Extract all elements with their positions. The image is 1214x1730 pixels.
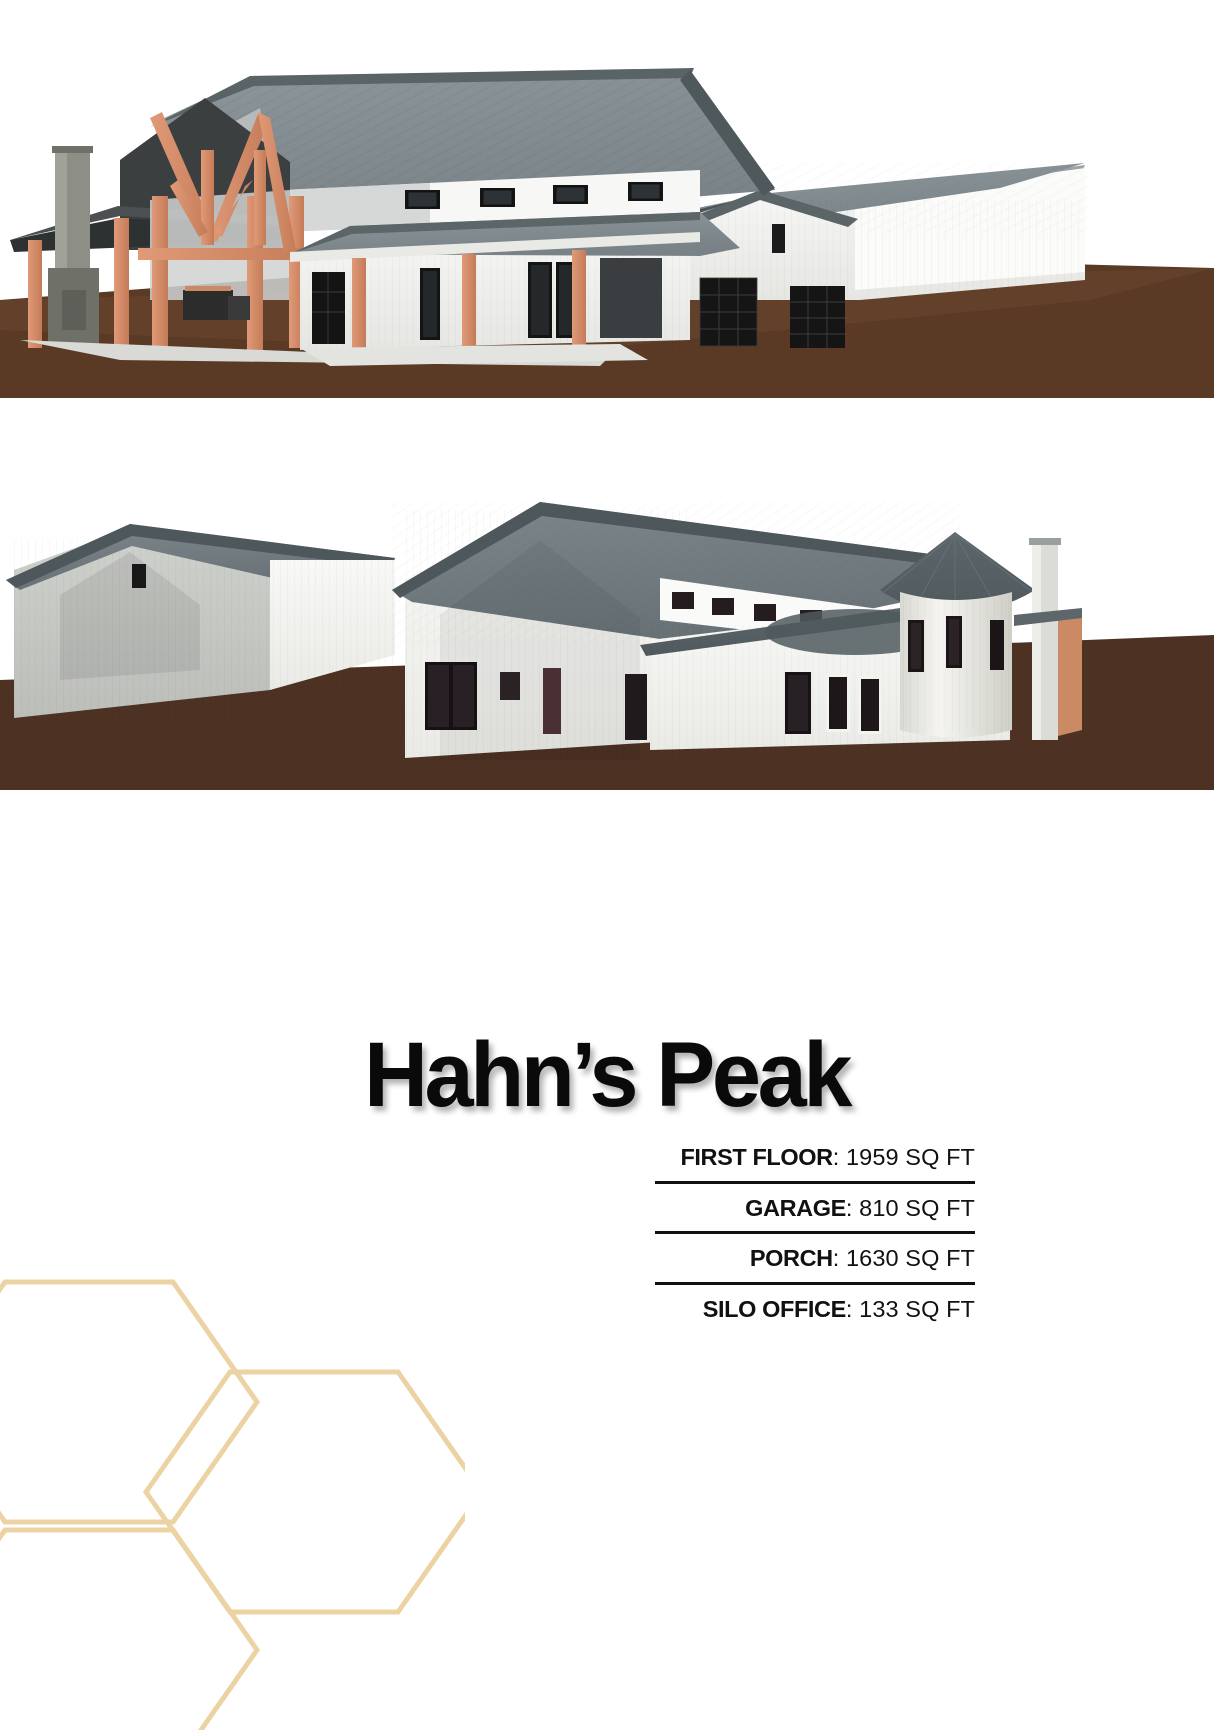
rear-elevation-svg [0,440,1214,790]
spec-value: 810 SQ FT [859,1195,975,1221]
outdoor-kitchen [183,290,233,320]
spec-label: SILO OFFICE [703,1296,846,1322]
spec-separator: : [833,1245,846,1271]
spec-row-first-floor: FIRST FLOOR: 1959 SQ FT [655,1146,975,1181]
hexagon-upper-left [0,1282,257,1522]
porch-post [114,218,129,348]
gable-vent [772,224,785,253]
wing-windows [785,672,882,734]
porch-post [152,196,168,351]
spec-label: FIRST FLOOR [680,1144,832,1170]
rear-elevation-rendering [0,440,1214,790]
hexagon-pattern-logo [0,1130,465,1730]
hexagon-logo-svg [0,1130,465,1730]
spec-label: PORCH [750,1245,833,1271]
spec-row-silo-office: SILO OFFICE: 133 SQ FT [655,1282,975,1333]
hexagon-lower-left [0,1530,257,1730]
garage-door-right [790,286,845,348]
spec-separator: : [846,1296,859,1322]
front-elevation-rendering [0,0,1214,400]
spec-value: 1959 SQ FT [846,1144,975,1170]
spec-row-garage: GARAGE: 810 SQ FT [655,1181,975,1232]
spec-value: 1630 SQ FT [846,1245,975,1271]
spec-separator: : [846,1195,859,1221]
porch-post [28,240,42,348]
porch-post [462,254,476,352]
porch-post [352,258,366,356]
spec-value: 133 SQ FT [859,1296,975,1322]
spec-row-porch: PORCH: 1630 SQ FT [655,1231,975,1282]
page-title: Hahn’s Peak [364,1027,849,1124]
spec-separator: : [833,1144,846,1170]
spec-table: FIRST FLOOR: 1959 SQ FT GARAGE: 810 SQ F… [655,1146,975,1332]
front-porch [290,212,740,366]
spec-label: GARAGE [745,1195,846,1221]
front-elevation-svg [0,0,1214,400]
porch-post [572,250,586,346]
